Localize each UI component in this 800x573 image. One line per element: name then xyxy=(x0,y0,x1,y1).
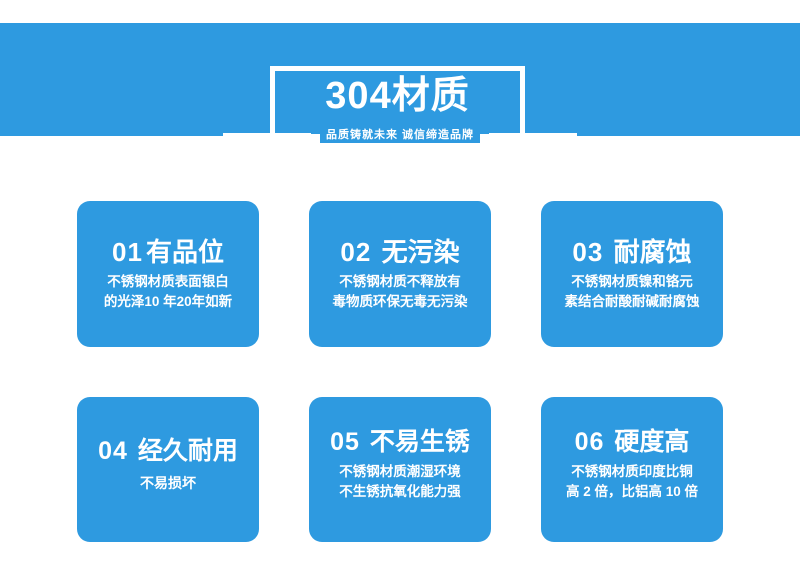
subtitle-rule-right xyxy=(489,133,577,137)
feature-card-04-body: 不易损坏 xyxy=(83,473,253,493)
subtitle-group: 品质铸就未来 诚信缔造品牌 xyxy=(200,124,600,146)
header-banner: 304材质 品质铸就未来 诚信缔造品牌 xyxy=(0,23,800,136)
feature-card-06-title: 06 硬度高 xyxy=(547,426,717,458)
feature-card-03: 03 耐腐蚀 不锈钢材质镍和铬元 素结合耐酸耐碱耐腐蚀 xyxy=(541,201,723,347)
feature-card-06: 06 硬度高 不锈钢材质印度比铜 高 2 倍，比铝高 10 倍 xyxy=(541,397,723,542)
feature-card-02-body: 不锈钢材质不释放有 毒物质环保无毒无污染 xyxy=(315,272,485,312)
feature-card-04-title: 04 经久耐用 xyxy=(83,435,253,467)
feature-card-02: 02 无污染 不锈钢材质不释放有 毒物质环保无毒无污染 xyxy=(309,201,491,347)
page-subtitle: 品质铸就未来 诚信缔造品牌 xyxy=(320,127,480,143)
feature-card-02-body-line-2: 毒物质环保无毒无污染 xyxy=(315,292,485,312)
feature-card-05-number: 05 xyxy=(330,428,360,456)
feature-row-2: 04 经久耐用 不易损坏 05 不易生锈 不锈钢材质潮湿环境 不生锈抗氧化能力强 xyxy=(77,397,723,542)
feature-card-05-title: 05 不易生锈 xyxy=(315,426,485,458)
feature-card-03-heading: 耐腐蚀 xyxy=(614,237,692,267)
feature-card-04-body-line-1: 不易损坏 xyxy=(83,473,253,493)
feature-card-04-content: 04 经久耐用 不易损坏 xyxy=(77,435,259,493)
feature-card-01-title: 01有品位 xyxy=(83,236,253,268)
feature-card-05-body-line-1: 不锈钢材质潮湿环境 xyxy=(315,462,485,482)
feature-card-05-body: 不锈钢材质潮湿环境 不生锈抗氧化能力强 xyxy=(315,462,485,502)
feature-card-04-number: 04 xyxy=(98,437,128,465)
feature-card-04: 04 经久耐用 不易损坏 xyxy=(77,397,259,542)
feature-card-06-body: 不锈钢材质印度比铜 高 2 倍，比铝高 10 倍 xyxy=(547,462,717,502)
feature-card-05: 05 不易生锈 不锈钢材质潮湿环境 不生锈抗氧化能力强 xyxy=(309,397,491,542)
feature-card-02-number: 02 xyxy=(340,237,371,267)
feature-card-06-body-line-2: 高 2 倍，比铝高 10 倍 xyxy=(547,482,717,502)
feature-card-02-body-line-1: 不锈钢材质不释放有 xyxy=(315,272,485,292)
feature-card-03-number: 03 xyxy=(572,237,603,267)
feature-card-02-content: 02 无污染 不锈钢材质不释放有 毒物质环保无毒无污染 xyxy=(309,236,491,312)
feature-card-05-heading: 不易生锈 xyxy=(370,428,470,456)
feature-card-01-heading: 有品位 xyxy=(146,237,224,267)
feature-card-03-body-line-2: 素结合耐酸耐碱耐腐蚀 xyxy=(547,292,717,312)
feature-card-03-content: 03 耐腐蚀 不锈钢材质镍和铬元 素结合耐酸耐碱耐腐蚀 xyxy=(541,236,723,312)
feature-card-05-body-line-2: 不生锈抗氧化能力强 xyxy=(315,482,485,502)
page-root: 304材质 品质铸就未来 诚信缔造品牌 01有品位 不锈钢材质表面银白 的光泽1… xyxy=(0,0,800,573)
feature-card-03-body-line-1: 不锈钢材质镍和铬元 xyxy=(547,272,717,292)
feature-card-02-title: 02 无污染 xyxy=(315,236,485,268)
feature-card-01: 01有品位 不锈钢材质表面银白 的光泽10 年20年如新 xyxy=(77,201,259,347)
feature-card-06-content: 06 硬度高 不锈钢材质印度比铜 高 2 倍，比铝高 10 倍 xyxy=(541,426,723,502)
feature-row-1: 01有品位 不锈钢材质表面银白 的光泽10 年20年如新 02 无污染 不锈钢材… xyxy=(77,201,723,347)
page-title: 304材质 xyxy=(270,67,525,125)
feature-card-grid: 01有品位 不锈钢材质表面银白 的光泽10 年20年如新 02 无污染 不锈钢材… xyxy=(77,201,723,542)
feature-card-01-body-line-1: 不锈钢材质表面银白 xyxy=(83,272,253,292)
feature-card-01-number: 01 xyxy=(112,237,143,267)
feature-card-04-heading: 经久耐用 xyxy=(138,437,238,465)
feature-card-02-heading: 无污染 xyxy=(382,237,460,267)
feature-card-05-content: 05 不易生锈 不锈钢材质潮湿环境 不生锈抗氧化能力强 xyxy=(309,426,491,502)
feature-card-06-body-line-1: 不锈钢材质印度比铜 xyxy=(547,462,717,482)
feature-card-01-body: 不锈钢材质表面银白 的光泽10 年20年如新 xyxy=(83,272,253,312)
feature-card-06-number: 06 xyxy=(575,428,605,456)
feature-card-01-content: 01有品位 不锈钢材质表面银白 的光泽10 年20年如新 xyxy=(77,236,259,312)
subtitle-rule-left xyxy=(223,133,311,137)
feature-card-01-body-line-2: 的光泽10 年20年如新 xyxy=(83,292,253,312)
feature-card-03-body: 不锈钢材质镍和铬元 素结合耐酸耐碱耐腐蚀 xyxy=(547,272,717,312)
feature-card-03-title: 03 耐腐蚀 xyxy=(547,236,717,268)
feature-card-06-heading: 硬度高 xyxy=(614,428,689,456)
